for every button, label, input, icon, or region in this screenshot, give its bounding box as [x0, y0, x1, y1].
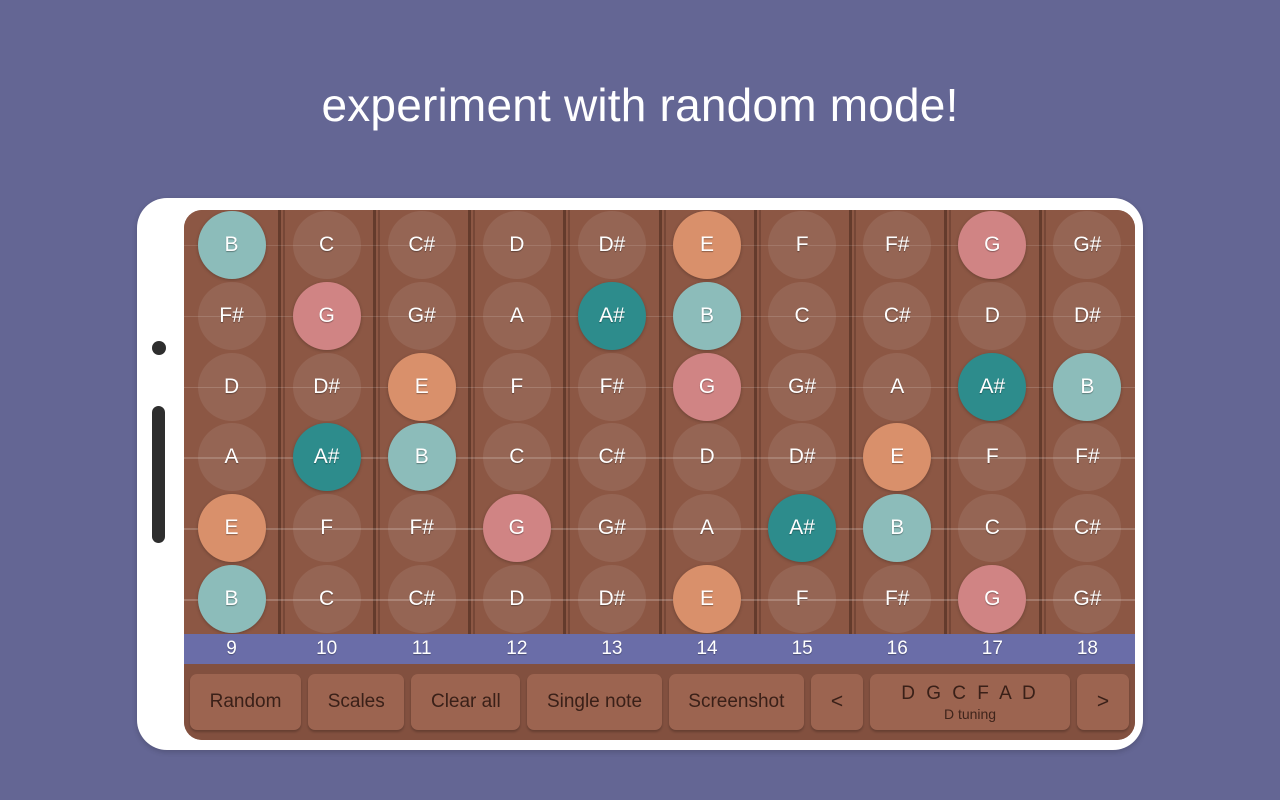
fret-note[interactable]: F# [863, 565, 931, 633]
fret-note[interactable]: B [863, 494, 931, 562]
phone-device: BCC#DD#EFF#GG#F#GG#AA#BCC#DD#DD#EFF#GG#A… [137, 198, 1143, 750]
fret-number: 16 [887, 634, 908, 664]
fret-note[interactable]: D [673, 423, 741, 491]
fret-number-strip: 9101112131415161718 [184, 634, 1135, 664]
fret-divider [373, 210, 376, 634]
fretboard[interactable]: BCC#DD#EFF#GG#F#GG#AA#BCC#DD#DD#EFF#GG#A… [184, 210, 1135, 634]
bottom-toolbar: Random Scales Clear all Single note Scre… [184, 664, 1135, 740]
fret-note[interactable]: D# [578, 565, 646, 633]
fret-note[interactable]: F [768, 565, 836, 633]
page-title: experiment with random mode! [0, 78, 1280, 132]
fret-note[interactable]: A# [768, 494, 836, 562]
clear-all-button[interactable]: Clear all [411, 674, 520, 730]
fret-note[interactable]: A# [293, 423, 361, 491]
fret-note[interactable]: G# [1053, 211, 1121, 279]
fret-note[interactable]: F [958, 423, 1026, 491]
fret-note[interactable]: D# [1053, 282, 1121, 350]
fret-note[interactable]: B [1053, 353, 1121, 421]
fret-note[interactable]: G# [578, 494, 646, 562]
fret-note[interactable]: C [768, 282, 836, 350]
fret-note[interactable]: F [768, 211, 836, 279]
single-note-button[interactable]: Single note [527, 674, 661, 730]
fret-note[interactable]: E [673, 565, 741, 633]
fret-number: 17 [982, 634, 1003, 664]
fret-divider-shadow [854, 210, 856, 634]
fret-note[interactable]: C# [863, 282, 931, 350]
fret-note[interactable]: E [863, 423, 931, 491]
fret-note[interactable]: D [483, 211, 551, 279]
fret-divider [849, 210, 852, 634]
fret-note[interactable]: C# [388, 565, 456, 633]
fret-note[interactable]: F# [1053, 423, 1121, 491]
fret-divider [563, 210, 566, 634]
fret-divider [278, 210, 281, 634]
fret-note[interactable]: F [483, 353, 551, 421]
fret-divider-shadow [568, 210, 570, 634]
fret-note[interactable]: D# [768, 423, 836, 491]
app-screen: BCC#DD#EFF#GG#F#GG#AA#BCC#DD#DD#EFF#GG#A… [184, 210, 1135, 740]
fret-note[interactable]: F# [863, 211, 931, 279]
fret-divider-shadow [283, 210, 285, 634]
fret-note[interactable]: F [293, 494, 361, 562]
fret-note[interactable]: A [483, 282, 551, 350]
fret-note[interactable]: C# [578, 423, 646, 491]
fret-note[interactable]: E [198, 494, 266, 562]
fret-number: 10 [316, 634, 337, 664]
fret-note[interactable]: B [198, 211, 266, 279]
random-button[interactable]: Random [190, 674, 301, 730]
fret-divider-shadow [949, 210, 951, 634]
fret-divider [659, 210, 662, 634]
tuning-name-label: D tuning [944, 706, 996, 722]
fret-note[interactable]: D# [578, 211, 646, 279]
fret-number: 13 [601, 634, 622, 664]
screenshot-button[interactable]: Screenshot [669, 674, 804, 730]
fret-note[interactable]: B [673, 282, 741, 350]
fret-note[interactable]: E [673, 211, 741, 279]
previous-tuning-button[interactable]: < [811, 674, 863, 730]
fret-number: 12 [506, 634, 527, 664]
fret-note[interactable]: A# [578, 282, 646, 350]
fret-note[interactable]: G# [388, 282, 456, 350]
fret-note[interactable]: A [673, 494, 741, 562]
fret-note[interactable]: C [483, 423, 551, 491]
fret-divider-shadow [759, 210, 761, 634]
fret-note[interactable]: G# [1053, 565, 1121, 633]
fret-note[interactable]: B [388, 423, 456, 491]
fret-note[interactable]: F# [388, 494, 456, 562]
fret-number: 9 [226, 634, 237, 664]
fret-note[interactable]: G [483, 494, 551, 562]
fret-divider [1039, 210, 1042, 634]
camera-dot-icon [152, 341, 166, 355]
fret-divider [468, 210, 471, 634]
fret-divider-shadow [473, 210, 475, 634]
fret-note[interactable]: F# [198, 282, 266, 350]
fret-note[interactable]: G [958, 565, 1026, 633]
fret-note[interactable]: G [673, 353, 741, 421]
fret-note[interactable]: C [293, 211, 361, 279]
fret-divider-shadow [1044, 210, 1046, 634]
fret-divider-shadow [664, 210, 666, 634]
fret-note[interactable]: D [198, 353, 266, 421]
power-button[interactable] [152, 406, 165, 543]
fret-divider [944, 210, 947, 634]
fret-note[interactable]: F# [578, 353, 646, 421]
tuning-strings-label: D G C F A D [901, 683, 1039, 705]
fret-number: 18 [1077, 634, 1098, 664]
next-tuning-button[interactable]: > [1077, 674, 1129, 730]
fret-number: 11 [412, 634, 432, 664]
fret-note[interactable]: C# [1053, 494, 1121, 562]
fret-note[interactable]: E [388, 353, 456, 421]
fret-note[interactable]: C [958, 494, 1026, 562]
fret-note[interactable]: D [483, 565, 551, 633]
fret-note[interactable]: B [198, 565, 266, 633]
fret-note[interactable]: G# [768, 353, 836, 421]
fret-divider [754, 210, 757, 634]
fret-number: 14 [696, 634, 717, 664]
scales-button[interactable]: Scales [308, 674, 404, 730]
fret-note[interactable]: C# [388, 211, 456, 279]
fret-divider-shadow [378, 210, 380, 634]
fret-note[interactable]: D [958, 282, 1026, 350]
fret-note[interactable]: A# [958, 353, 1026, 421]
fret-note[interactable]: D# [293, 353, 361, 421]
fret-note[interactable]: G [958, 211, 1026, 279]
fret-number: 15 [792, 634, 813, 664]
fret-note[interactable]: A [863, 353, 931, 421]
tuning-selector-button[interactable]: D G C F A D D tuning [870, 674, 1070, 730]
fret-note[interactable]: G [293, 282, 361, 350]
fret-note[interactable]: A [198, 423, 266, 491]
screenshot-root: experiment with random mode! BCC#DD#EFF#… [0, 0, 1280, 800]
fret-note[interactable]: C [293, 565, 361, 633]
